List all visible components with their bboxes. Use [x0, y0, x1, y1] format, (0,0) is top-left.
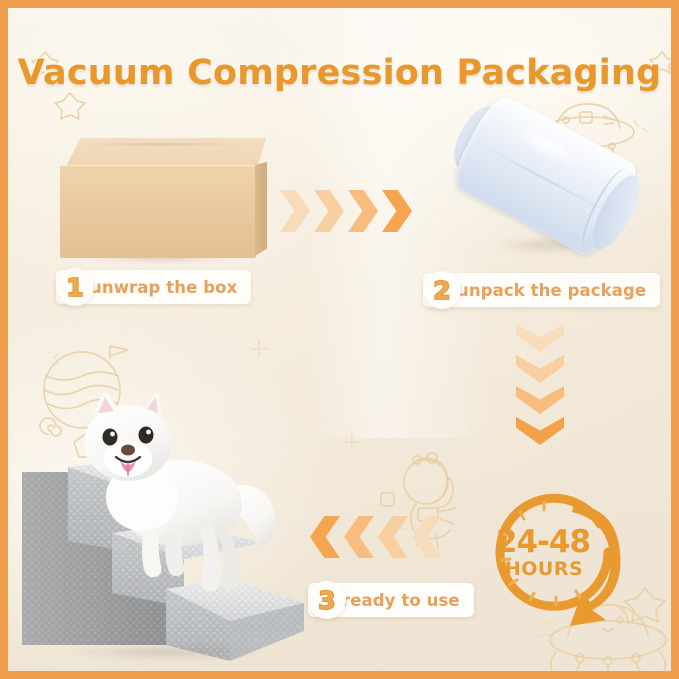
clock-duration: 24-48	[482, 524, 604, 560]
step-label-3: ready to use 3	[308, 583, 474, 617]
step-number-badge-3: 3	[308, 581, 346, 619]
box-front-face	[60, 165, 256, 258]
chevron-down-icon	[516, 417, 564, 445]
dog-eye-left	[103, 429, 118, 446]
step-label-text-1: unwrap the box	[90, 278, 237, 297]
sparkle-doodle	[248, 338, 270, 360]
step-number-badge-1: 1	[56, 268, 94, 306]
box-side-face	[255, 162, 267, 256]
chevron-right-icon	[314, 190, 344, 232]
step-label-1: unwrap the box 1	[56, 270, 251, 304]
chevron-left-icon	[344, 516, 374, 558]
pet-stairs-with-dog-illustration	[16, 393, 316, 668]
stairs-dog-drawing	[16, 393, 316, 668]
turnaround-time-badge: 24-48 HOURS	[482, 478, 630, 626]
cardboard-box-illustration	[52, 138, 268, 258]
dog-nose	[121, 445, 135, 456]
chevron-right-icon	[382, 190, 412, 232]
chevron-right-icon	[280, 190, 310, 232]
roll-highlight	[495, 109, 601, 184]
sparkle-doodle	[342, 432, 362, 452]
vacuum-sealed-roll-illustration	[454, 108, 634, 258]
arrows-wait-to-ready	[310, 516, 442, 558]
dog-front-leg	[142, 527, 161, 577]
poster-inner-frame: Vacuum Compression Packaging	[8, 8, 671, 671]
sparkle-doodle	[376, 488, 400, 512]
step-number-badge-2: 2	[423, 271, 461, 309]
chevron-right-icon	[348, 190, 378, 232]
chevron-left-icon	[310, 516, 340, 558]
chevron-down-icon	[516, 355, 564, 383]
chevron-down-icon	[516, 324, 564, 352]
box-tape-seam	[82, 143, 242, 146]
clock-unit: HOURS	[482, 558, 606, 580]
arrows-package-to-wait	[516, 324, 564, 445]
chevron-left-icon	[412, 516, 442, 558]
infographic-poster: Vacuum Compression Packaging	[0, 0, 679, 679]
arrows-box-to-package	[280, 190, 412, 232]
chevron-down-icon	[516, 386, 564, 414]
step-label-2: unpack the package 2	[423, 273, 660, 307]
chevron-left-icon	[378, 516, 408, 558]
step-label-text-2: unpack the package	[457, 281, 646, 300]
stairs-drop-shadow	[26, 642, 304, 662]
step-label-text-3: ready to use	[342, 591, 460, 610]
dog-eye-right	[139, 427, 154, 444]
page-title: Vacuum Compression Packaging	[8, 53, 671, 93]
